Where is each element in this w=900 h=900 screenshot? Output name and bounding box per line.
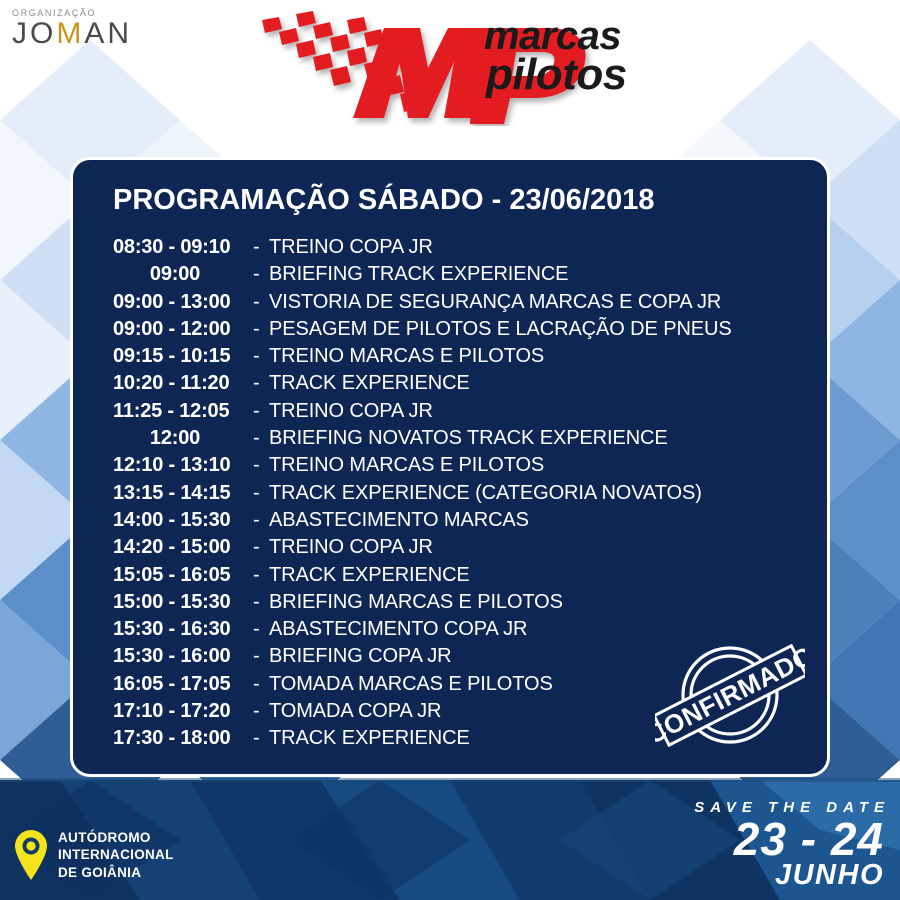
schedule-row: 11:25 - 12:05-TREINO COPA JR (113, 400, 813, 427)
schedule-time: 15:00 - 15:30 (113, 591, 253, 614)
poster-footer: AUTÓDROMO INTERNACIONAL DE GOIÂNIA SAVE … (0, 778, 900, 900)
schedule-row: 09:00 - 13:00-VISTORIA DE SEGURANÇA MARC… (113, 291, 813, 318)
schedule-time: 10:20 - 11:20 (113, 372, 253, 395)
schedule-row: 09:00 - 12:00-PESAGEM DE PILOTOS E LACRA… (113, 318, 813, 345)
schedule-description: PESAGEM DE PILOTOS E LACRAÇÃO DE PNEUS (269, 318, 813, 341)
schedule-separator: - (253, 727, 269, 750)
schedule-row: 15:00 - 15:30-BRIEFING MARCAS E PILOTOS (113, 591, 813, 618)
save-the-date-block: SAVE THE DATE 23 - 24 JUNHO (694, 799, 884, 890)
schedule-time: 16:05 - 17:05 (113, 673, 253, 696)
schedule-description: VISTORIA DE SEGURANÇA MARCAS E COPA JR (269, 291, 813, 314)
schedule-separator: - (253, 263, 269, 286)
schedule-panel: PROGRAMAÇÃO SÁBADO - 23/06/2018 08:30 - … (70, 157, 830, 777)
schedule-time: 09:00 (113, 263, 253, 286)
schedule-separator: - (253, 236, 269, 259)
event-days: 23 - 24 (694, 818, 884, 860)
confirmado-stamp-icon: CONFIRMADO (655, 634, 805, 756)
schedule-separator: - (253, 673, 269, 696)
schedule-row: 14:20 - 15:00-TREINO COPA JR (113, 536, 813, 563)
schedule-row: 14:00 - 15:30-ABASTECIMENTO MARCAS (113, 509, 813, 536)
location-pin-icon (14, 829, 48, 881)
schedule-separator: - (253, 482, 269, 505)
venue-line-3: DE GOIÂNIA (58, 864, 174, 882)
schedule-description: TREINO COPA JR (269, 400, 813, 423)
schedule-time: 11:25 - 12:05 (113, 400, 253, 423)
schedule-row: 12:00-BRIEFING NOVATOS TRACK EXPERIENCE (113, 427, 813, 454)
schedule-description: TRACK EXPERIENCE (269, 564, 813, 587)
event-schedule-poster: ORGANIZAÇÃO JOMAN (0, 0, 900, 900)
schedule-separator: - (253, 372, 269, 395)
venue-line-2: INTERNACIONAL (58, 846, 174, 864)
schedule-time: 12:00 (113, 427, 253, 450)
schedule-description: ABASTECIMENTO MARCAS (269, 509, 813, 532)
schedule-time: 13:15 - 14:15 (113, 482, 253, 505)
schedule-time: 15:30 - 16:00 (113, 645, 253, 668)
schedule-separator: - (253, 564, 269, 587)
joman-part-an: AN (84, 17, 132, 50)
schedule-description: TREINO COPA JR (269, 236, 813, 259)
schedule-description: BRIEFING MARCAS E PILOTOS (269, 591, 813, 614)
schedule-time: 15:05 - 16:05 (113, 564, 253, 587)
schedule-description: BRIEFING NOVATOS TRACK EXPERIENCE (269, 427, 813, 450)
schedule-separator: - (253, 591, 269, 614)
schedule-time: 12:10 - 13:10 (113, 454, 253, 477)
schedule-separator: - (253, 318, 269, 341)
wordmark-e: e (462, 50, 486, 99)
schedule-time: 14:00 - 15:30 (113, 509, 253, 532)
page-title: PROGRAMAÇÃO SÁBADO - 23/06/2018 (113, 184, 654, 217)
wordmark-pilotos: epilotos (462, 55, 692, 95)
schedule-row: 15:05 - 16:05-TRACK EXPERIENCE (113, 564, 813, 591)
schedule-row: 13:15 - 14:15-TRACK EXPERIENCE (CATEGORI… (113, 482, 813, 509)
poster-header: ORGANIZAÇÃO JOMAN (0, 0, 900, 150)
schedule-row: 09:15 - 10:15-TREINO MARCAS E PILOTOS (113, 345, 813, 372)
organizer-logo: ORGANIZAÇÃO JOMAN (12, 8, 132, 49)
venue-name: AUTÓDROMO INTERNACIONAL DE GOIÂNIA (58, 829, 174, 882)
schedule-description: TRACK EXPERIENCE (CATEGORIA NOVATOS) (269, 482, 813, 505)
schedule-description: TREINO MARCAS E PILOTOS (269, 454, 813, 477)
venue-block: AUTÓDROMO INTERNACIONAL DE GOIÂNIA (14, 829, 174, 882)
schedule-time: 15:30 - 16:30 (113, 618, 253, 641)
schedule-row: 09:00-BRIEFING TRACK EXPERIENCE (113, 263, 813, 290)
schedule-time: 09:00 - 13:00 (113, 291, 253, 314)
venue-line-1: AUTÓDROMO (58, 829, 174, 847)
schedule-separator: - (253, 291, 269, 314)
schedule-time: 14:20 - 15:00 (113, 536, 253, 559)
schedule-separator: - (253, 345, 269, 368)
schedule-time: 09:00 - 12:00 (113, 318, 253, 341)
schedule-separator: - (253, 645, 269, 668)
brand-wordmark: marcas epilotos (462, 18, 692, 108)
joman-part-m: M (56, 17, 84, 50)
schedule-time: 09:15 - 10:15 (113, 345, 253, 368)
joman-part-jo: JO (12, 17, 56, 50)
wordmark-pilotos-text: pilotos (486, 50, 627, 99)
event-month: JUNHO (694, 861, 884, 890)
schedule-time: 17:30 - 18:00 (113, 727, 253, 750)
schedule-separator: - (253, 700, 269, 723)
schedule-time: 08:30 - 09:10 (113, 236, 253, 259)
schedule-description: TRACK EXPERIENCE (269, 372, 813, 395)
schedule-separator: - (253, 454, 269, 477)
schedule-row: 12:10 - 13:10-TREINO MARCAS E PILOTOS (113, 454, 813, 481)
schedule-time: 17:10 - 17:20 (113, 700, 253, 723)
schedule-separator: - (253, 400, 269, 423)
schedule-separator: - (253, 509, 269, 532)
schedule-separator: - (253, 618, 269, 641)
joman-wordmark: JOMAN (12, 19, 132, 49)
schedule-separator: - (253, 427, 269, 450)
schedule-row: 08:30 - 09:10-TREINO COPA JR (113, 236, 813, 263)
schedule-description: TREINO COPA JR (269, 536, 813, 559)
schedule-description: BRIEFING TRACK EXPERIENCE (269, 263, 813, 286)
schedule-row: 10:20 - 11:20-TRACK EXPERIENCE (113, 372, 813, 399)
schedule-description: TREINO MARCAS E PILOTOS (269, 345, 813, 368)
schedule-separator: - (253, 536, 269, 559)
